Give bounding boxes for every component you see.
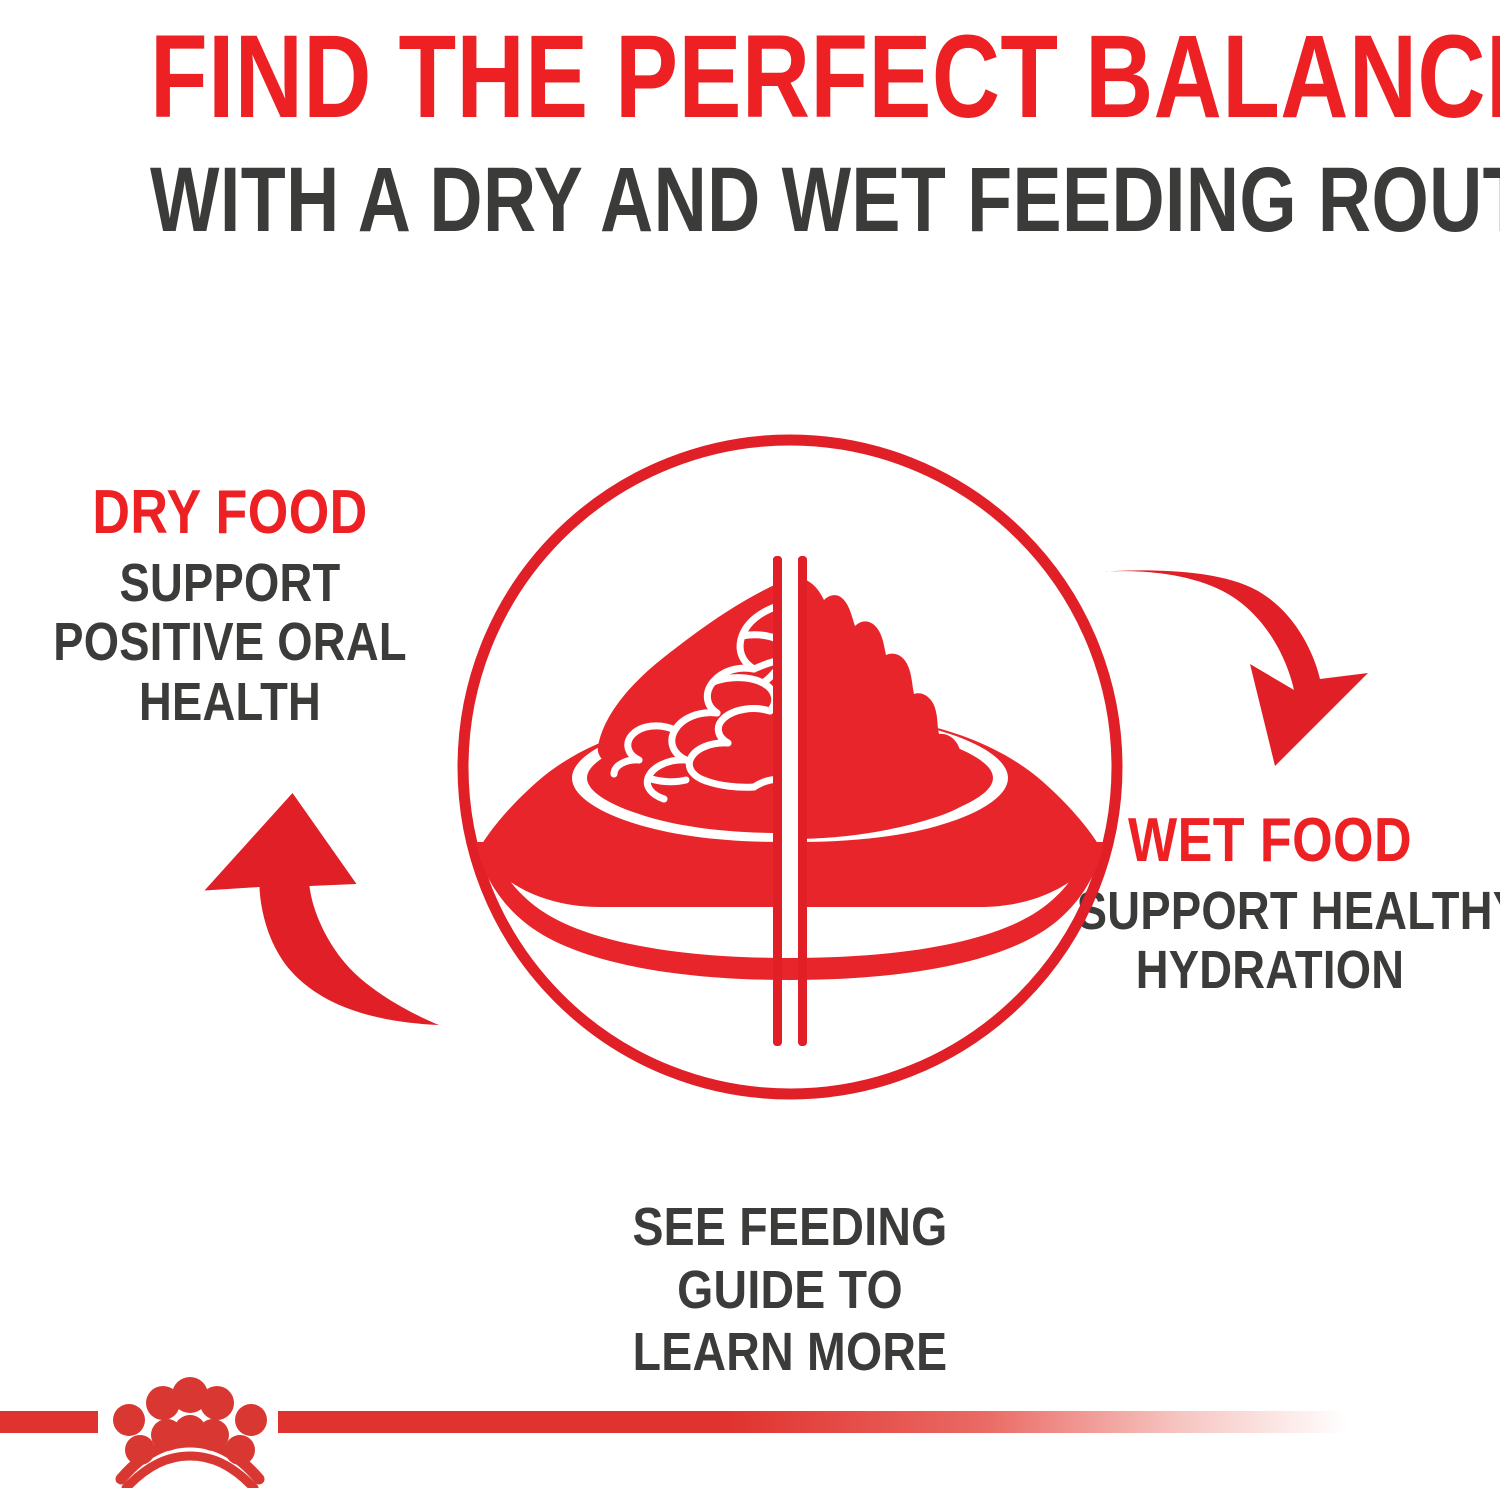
feeding-guide-line-2: GUIDE TO	[532, 1259, 1048, 1322]
page-subtitle: WITH A DRY AND WET FEEDING ROUTINE	[150, 154, 1350, 246]
dry-food-title: DRY FOOD	[37, 482, 423, 544]
wet-food-pate	[799, 578, 981, 839]
page-title: FIND THE PERFECT BALANCE	[150, 18, 1350, 136]
divider-line-right-overlay	[798, 556, 807, 1046]
dry-food-line-1: SUPPORT	[37, 554, 423, 613]
infographic-page: FIND THE PERFECT BALANCE WITH A DRY AND …	[0, 0, 1500, 1500]
headline-block: FIND THE PERFECT BALANCE WITH A DRY AND …	[0, 18, 1500, 246]
split-food-bowl-illustration	[420, 410, 1160, 1130]
feeding-guide-note: SEE FEEDING GUIDE TO LEARN MORE	[490, 1196, 1090, 1384]
footer-rule-left	[0, 1411, 98, 1433]
dry-kibble-group	[598, 582, 781, 800]
dry-food-label-group: DRY FOOD SUPPORT POSITIVE ORAL HEALTH	[0, 482, 460, 732]
footer	[0, 1368, 1500, 1500]
footer-rule-right	[278, 1411, 1348, 1433]
dry-food-description: SUPPORT POSITIVE ORAL HEALTH	[37, 554, 423, 732]
divider-line-left-overlay	[773, 556, 782, 1046]
dry-food-line-3: HEALTH	[37, 673, 423, 732]
royal-canin-crown-logo	[104, 1370, 276, 1488]
feeding-guide-line-1: SEE FEEDING	[532, 1196, 1048, 1259]
dry-food-line-2: POSITIVE ORAL	[37, 613, 423, 672]
